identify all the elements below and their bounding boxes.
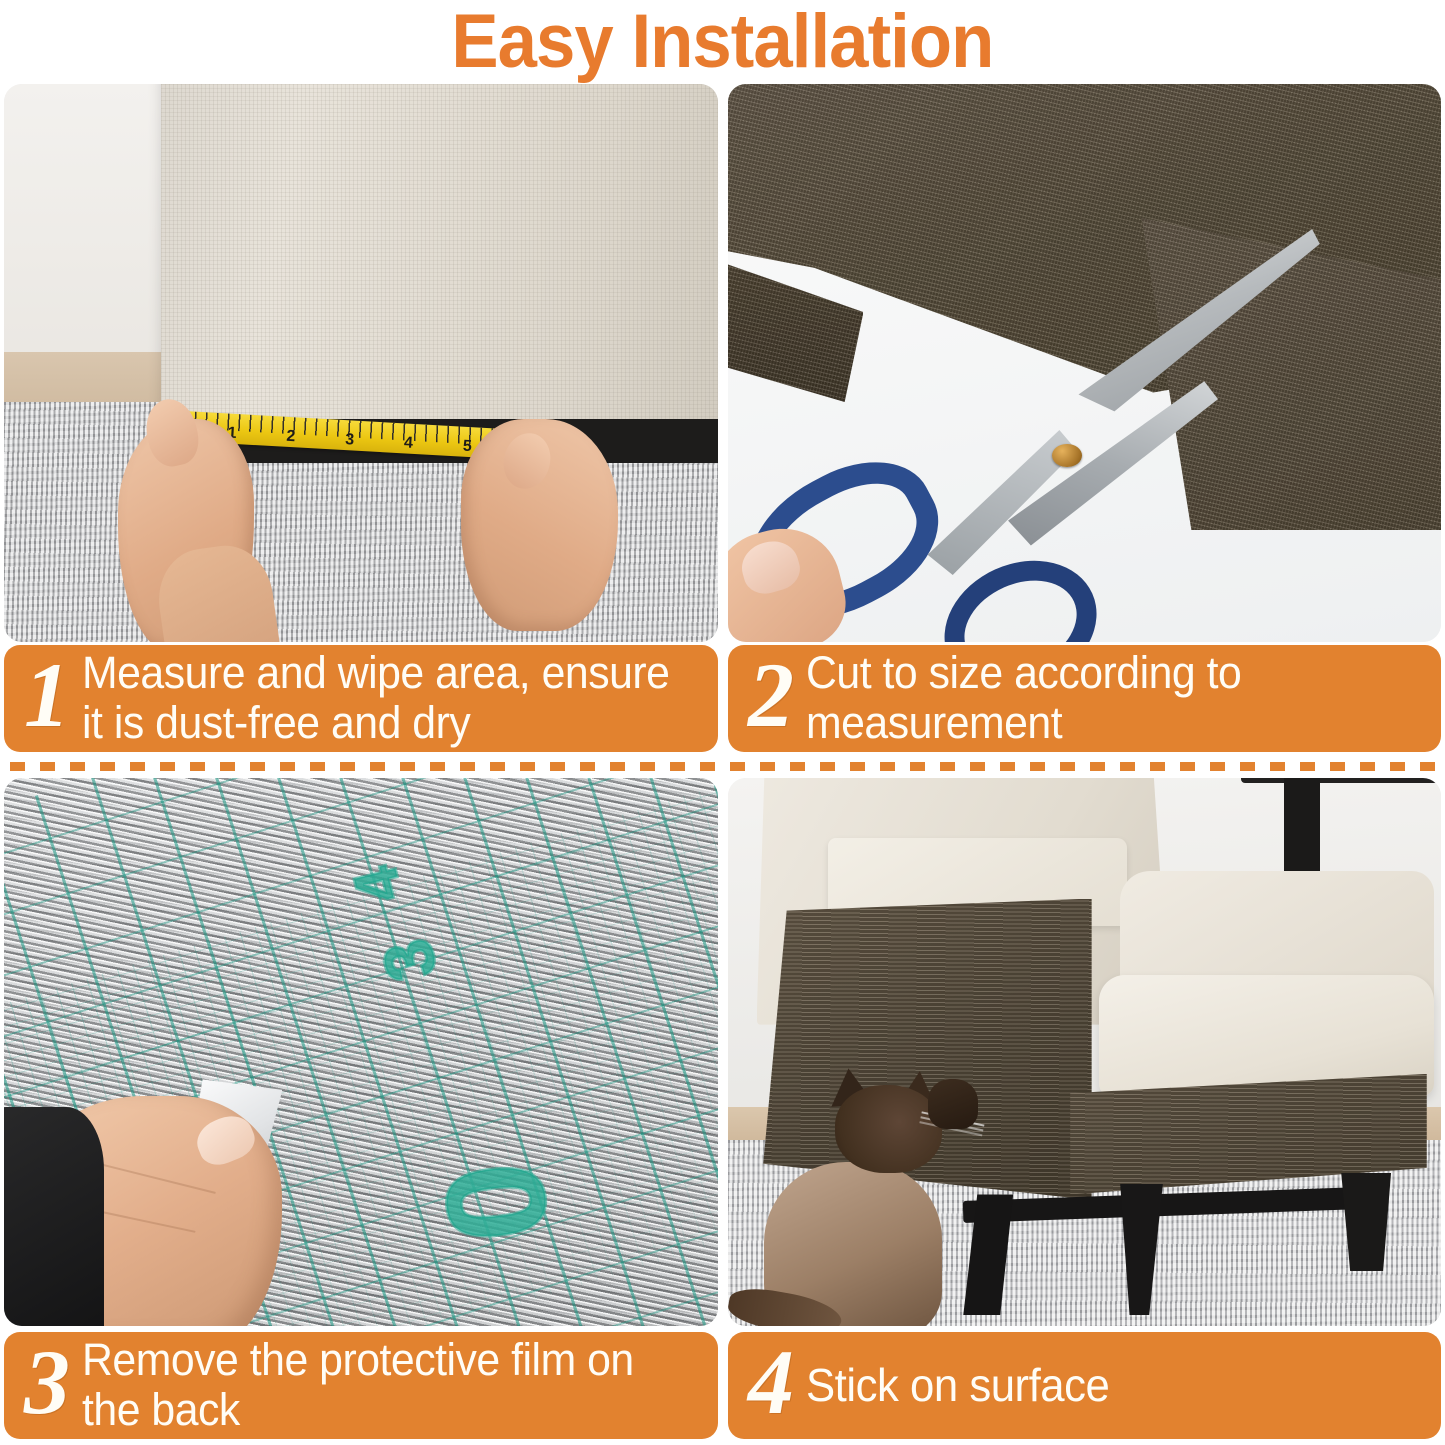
step-card-4: 4 Stick on surface xyxy=(728,778,1441,1445)
step-caption-1: 1 Measure and wipe area, ensure it is du… xyxy=(4,645,718,752)
tape-number: 4 xyxy=(403,434,413,452)
step-text-3: Remove the protective film on the back xyxy=(82,1335,677,1435)
step-card-1: 1 2 3 4 5 6 1 Measure and wipe area, ens… xyxy=(4,84,718,752)
tape-number: 2 xyxy=(285,427,295,445)
step-card-3: 4 3 0 3 Remove the protective film on th… xyxy=(4,778,718,1445)
step-photo-4 xyxy=(728,778,1441,1326)
step-number-3: 3 xyxy=(18,1336,82,1434)
tape-number: 5 xyxy=(462,437,472,455)
film-printed-number: 0 xyxy=(411,1149,581,1249)
cat-head xyxy=(835,1085,942,1173)
step-caption-4: 4 Stick on surface xyxy=(728,1332,1441,1439)
sofa-body xyxy=(161,84,718,441)
step-text-2: Cut to size according to measurement xyxy=(806,648,1400,748)
tape-number: 3 xyxy=(344,431,354,449)
page-title: Easy Installation xyxy=(452,3,994,81)
page-title-bar: Easy Installation xyxy=(0,0,1445,84)
side-table-top xyxy=(1241,778,1441,783)
step-photo-2 xyxy=(728,84,1441,642)
sofa-fabric-texture xyxy=(161,84,718,441)
cat-paw xyxy=(928,1079,978,1128)
step-text-1: Measure and wipe area, ensure it is dust… xyxy=(82,648,677,748)
black-sleeve xyxy=(4,1107,104,1326)
step-number-2: 2 xyxy=(742,649,806,747)
step-number-4: 4 xyxy=(742,1336,806,1434)
infographic-page: Easy Installation 1 2 xyxy=(0,0,1445,1445)
step-number-1: 1 xyxy=(18,649,82,747)
step-photo-3: 4 3 0 xyxy=(4,778,718,1326)
step-photo-1: 1 2 3 4 5 6 xyxy=(4,84,718,642)
dashed-divider xyxy=(10,762,1435,771)
step-text-4: Stick on surface xyxy=(806,1360,1109,1410)
step-card-2: 2 Cut to size according to measurement xyxy=(728,84,1441,752)
step-caption-3: 3 Remove the protective film on the back xyxy=(4,1332,718,1439)
step-caption-2: 2 Cut to size according to measurement xyxy=(728,645,1441,752)
